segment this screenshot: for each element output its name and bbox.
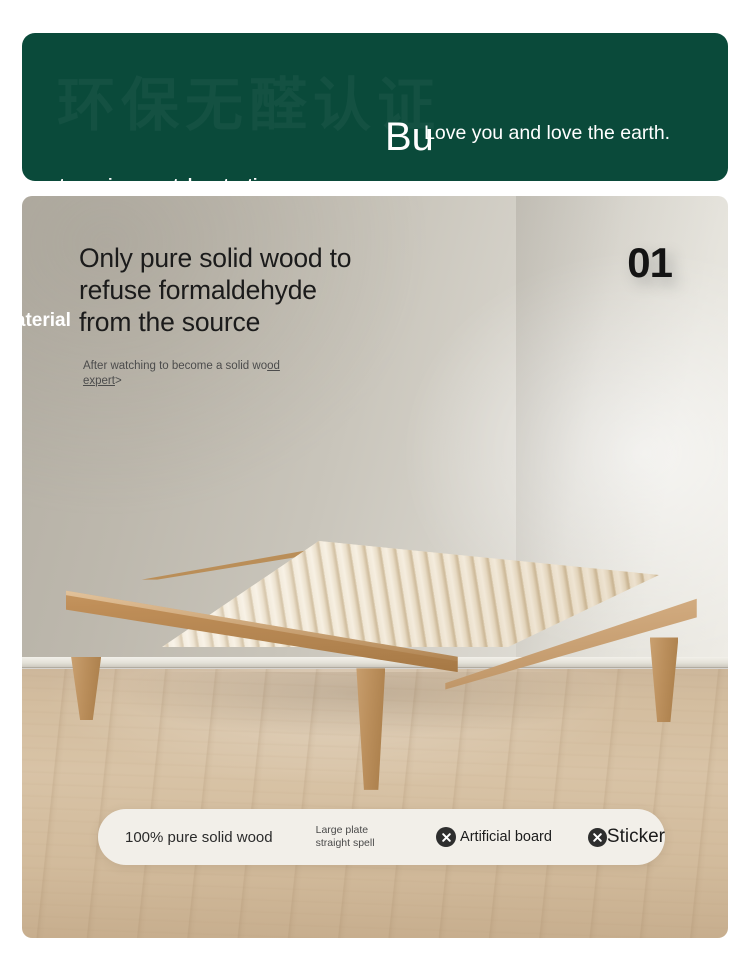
x-circle-icon <box>588 828 607 847</box>
bed-leg-right <box>650 637 679 722</box>
banner-subline: Adhere to environmental protection <box>0 176 278 195</box>
photo-subline[interactable]: After watching to become a solid wood ex… <box>83 359 313 389</box>
bed-leg-front-left <box>71 657 101 721</box>
product-photo-panel: Only pure solid wood to refuse formaldeh… <box>22 196 728 938</box>
pill-label-sticker: Sticker <box>607 826 665 848</box>
pill-item-large-plate-straight-spell: Large plate straight spell <box>316 824 398 850</box>
material-comparison-pill: 100% pure solid wood Large plate straigh… <box>98 809 665 865</box>
bed-slat-deck-sheen <box>78 541 659 647</box>
photo-subline-lead: After watching to become a solid wo <box>83 360 267 372</box>
x-circle-icon <box>436 827 456 847</box>
step-number-badge: 01 <box>627 240 672 286</box>
pill-label-artificial-board: Artificial board <box>460 829 552 845</box>
pill-item-pure-solid-wood: 100% pure solid wood <box>125 829 273 846</box>
pill-label-large-plate-straight-spell: Large plate straight spell <box>316 824 398 850</box>
eco-banner: 环保无醛认证 Bu Love you and love the earth. A… <box>22 33 728 181</box>
photo-subline-tail: > <box>115 375 122 387</box>
pill-item-sticker: Sticker <box>588 826 665 848</box>
banner-caption: Love you and love the earth. <box>424 121 724 146</box>
pill-item-artificial-board: Artificial board <box>436 827 552 847</box>
photo-headline: Only pure solid wood to refuse formaldeh… <box>79 242 367 358</box>
photo-headline-side-label: material <box>22 310 71 332</box>
pill-label-pure-solid-wood: 100% pure solid wood <box>125 829 273 846</box>
solid-wood-bed-frame <box>50 541 703 734</box>
